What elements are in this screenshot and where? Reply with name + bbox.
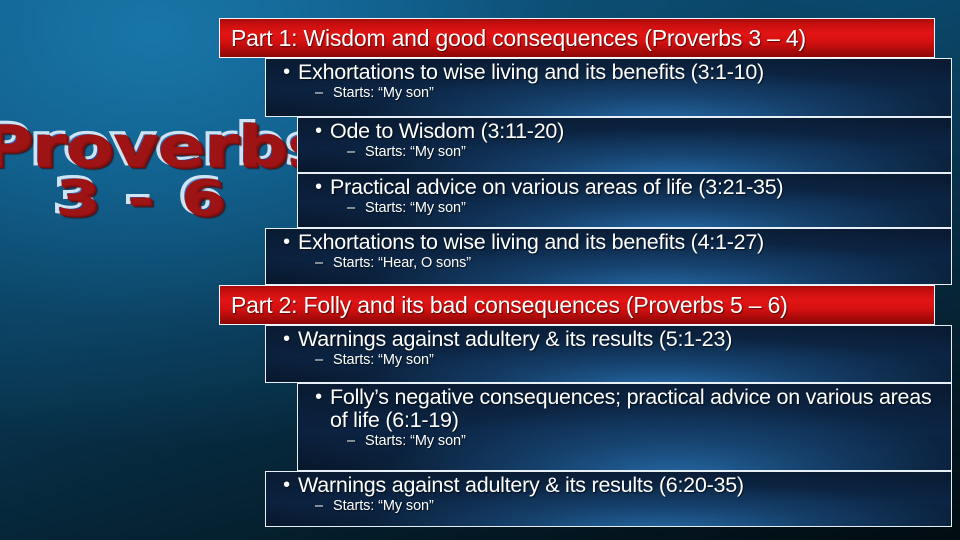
- slide-canvas: Proverbs 3 - 6 Part 1: Wisdom and good c…: [0, 0, 960, 540]
- content-box-6-1-19: • Folly’s negative consequences; practic…: [297, 383, 952, 471]
- bullet-row: • Exhortations to wise living and its be…: [275, 61, 945, 84]
- sub-dash-icon: –: [315, 353, 333, 369]
- sub-dash-icon: –: [315, 499, 333, 515]
- bullet-row: • Folly’s negative consequences; practic…: [307, 386, 945, 432]
- sub-bullet-text: Starts: “My son”: [365, 434, 945, 450]
- bullet-dot-icon: •: [275, 328, 298, 351]
- bullet-text: Ode to Wisdom (3:11-20): [330, 120, 945, 143]
- sub-bullet-row: – Starts: “My son”: [307, 145, 945, 161]
- sub-bullet-text: Starts: “My son”: [333, 86, 945, 102]
- sub-bullet-text: Starts: “Hear, O sons”: [333, 256, 945, 272]
- part-1-header-label: Part 1: Wisdom and good consequences (Pr…: [231, 25, 806, 52]
- wordart-title-line1: Proverbs: [0, 118, 299, 172]
- bullet-row: • Ode to Wisdom (3:11-20): [307, 120, 945, 143]
- bullet-text: Practical advice on various areas of lif…: [330, 176, 945, 199]
- wordart-title-line2: 3 - 6: [0, 174, 309, 221]
- bullet-row: • Exhortations to wise living and its be…: [275, 231, 945, 254]
- bullet-dot-icon: •: [275, 61, 298, 84]
- bullet-text: Warnings against adultery & its results …: [298, 474, 945, 497]
- sub-bullet-text: Starts: “My son”: [365, 145, 945, 161]
- sub-bullet-row: – Starts: “My son”: [275, 499, 945, 515]
- bullet-dot-icon: •: [307, 176, 330, 199]
- bullet-row: • Warnings against adultery & its result…: [275, 474, 945, 497]
- content-box-3-11-20: • Ode to Wisdom (3:11-20) – Starts: “My …: [297, 117, 952, 173]
- bullet-dot-icon: •: [307, 386, 330, 409]
- content-box-3-1-10: • Exhortations to wise living and its be…: [265, 58, 952, 117]
- sub-bullet-row: – Starts: “Hear, O sons”: [275, 256, 945, 272]
- part-2-header-label: Part 2: Folly and its bad consequences (…: [231, 292, 788, 319]
- content-box-3-21-35: • Practical advice on various areas of l…: [297, 173, 952, 228]
- bullet-row: • Practical advice on various areas of l…: [307, 176, 945, 199]
- sub-dash-icon: –: [347, 145, 365, 161]
- sub-bullet-text: Starts: “My son”: [333, 353, 945, 369]
- bullet-dot-icon: •: [307, 120, 330, 143]
- bullet-text: Warnings against adultery & its results …: [298, 328, 945, 351]
- bullet-row: • Warnings against adultery & its result…: [275, 328, 945, 351]
- bullet-dot-icon: •: [275, 231, 298, 254]
- content-box-4-1-27: • Exhortations to wise living and its be…: [265, 228, 952, 285]
- sub-dash-icon: –: [315, 86, 333, 102]
- sub-bullet-row: – Starts: “My son”: [307, 434, 945, 450]
- bullet-dot-icon: •: [275, 474, 298, 497]
- part-1-header-bar: Part 1: Wisdom and good consequences (Pr…: [219, 18, 935, 58]
- sub-bullet-text: Starts: “My son”: [365, 201, 945, 217]
- bullet-text: Exhortations to wise living and its bene…: [298, 231, 945, 254]
- content-box-5-1-23: • Warnings against adultery & its result…: [265, 325, 952, 383]
- bullet-text: Folly’s negative consequences; practical…: [330, 386, 945, 432]
- content-box-6-20-35: • Warnings against adultery & its result…: [265, 471, 952, 527]
- sub-bullet-text: Starts: “My son”: [333, 499, 945, 515]
- sub-dash-icon: –: [315, 256, 333, 272]
- sub-dash-icon: –: [347, 201, 365, 217]
- sub-bullet-row: – Starts: “My son”: [275, 86, 945, 102]
- sub-dash-icon: –: [347, 434, 365, 450]
- wordart-title: Proverbs 3 - 6: [8, 118, 270, 221]
- part-2-header-bar: Part 2: Folly and its bad consequences (…: [219, 285, 935, 325]
- bullet-text: Exhortations to wise living and its bene…: [298, 61, 945, 84]
- sub-bullet-row: – Starts: “My son”: [275, 353, 945, 369]
- sub-bullet-row: – Starts: “My son”: [307, 201, 945, 217]
